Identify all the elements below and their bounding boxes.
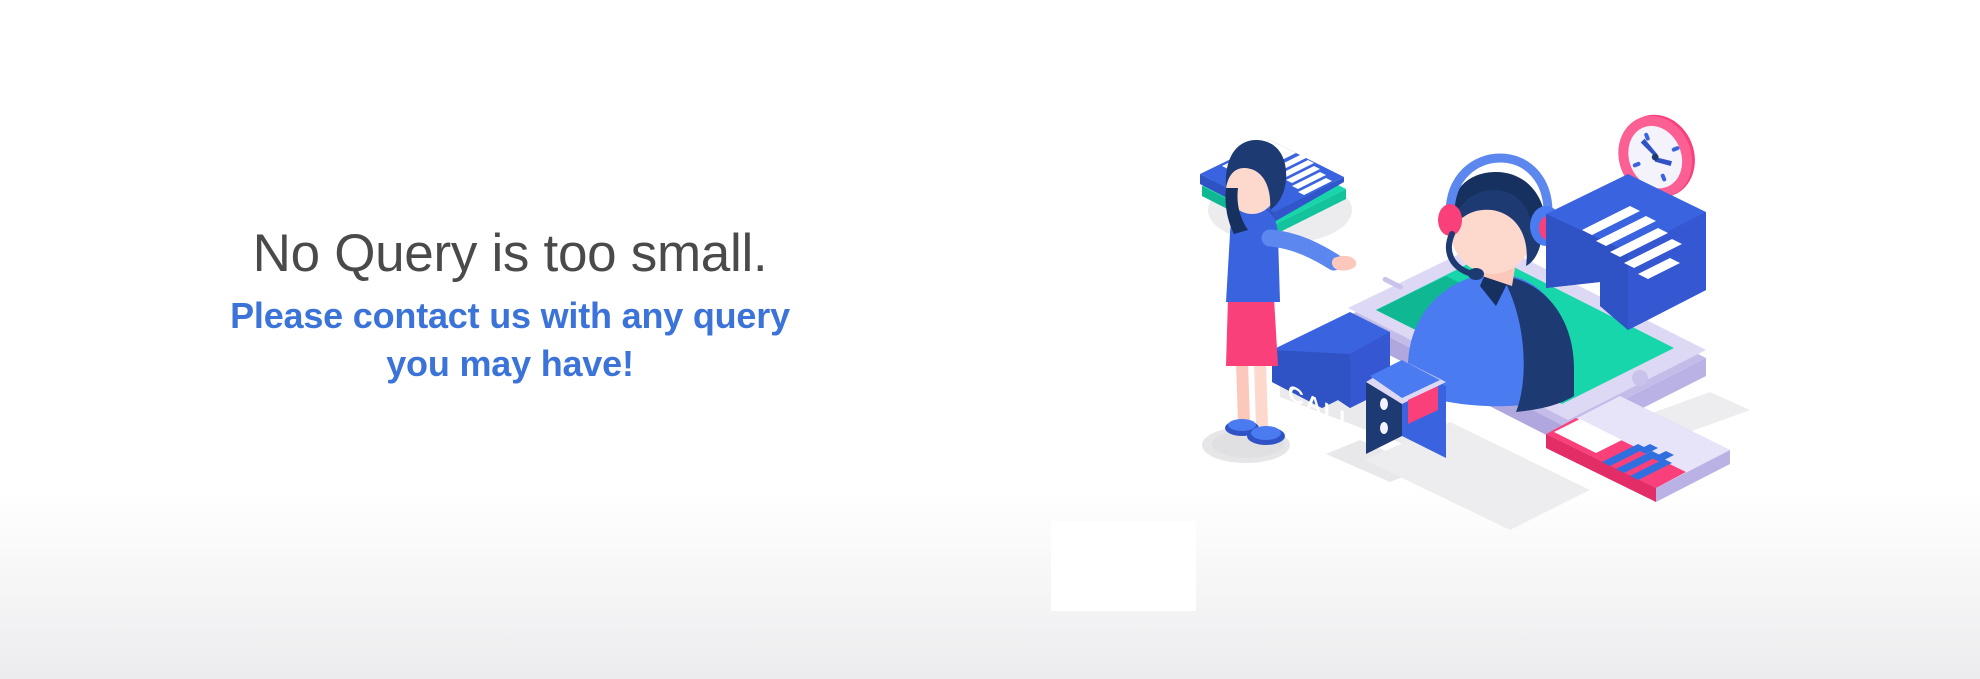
page-title: No Query is too small.	[160, 225, 860, 282]
hero-banner: No Query is too small. Please contact us…	[0, 0, 1980, 679]
hero-subtitle-line-1: Please contact us with any query	[230, 295, 790, 336]
white-rectangle-artifact	[1051, 521, 1196, 611]
hero-subtitle: Please contact us with any query you may…	[160, 292, 860, 388]
support-illustration: CALL	[1150, 110, 1770, 530]
hero-subtitle-line-2: you may have!	[386, 343, 634, 384]
hero-copy-block: No Query is too small. Please contact us…	[160, 225, 860, 388]
